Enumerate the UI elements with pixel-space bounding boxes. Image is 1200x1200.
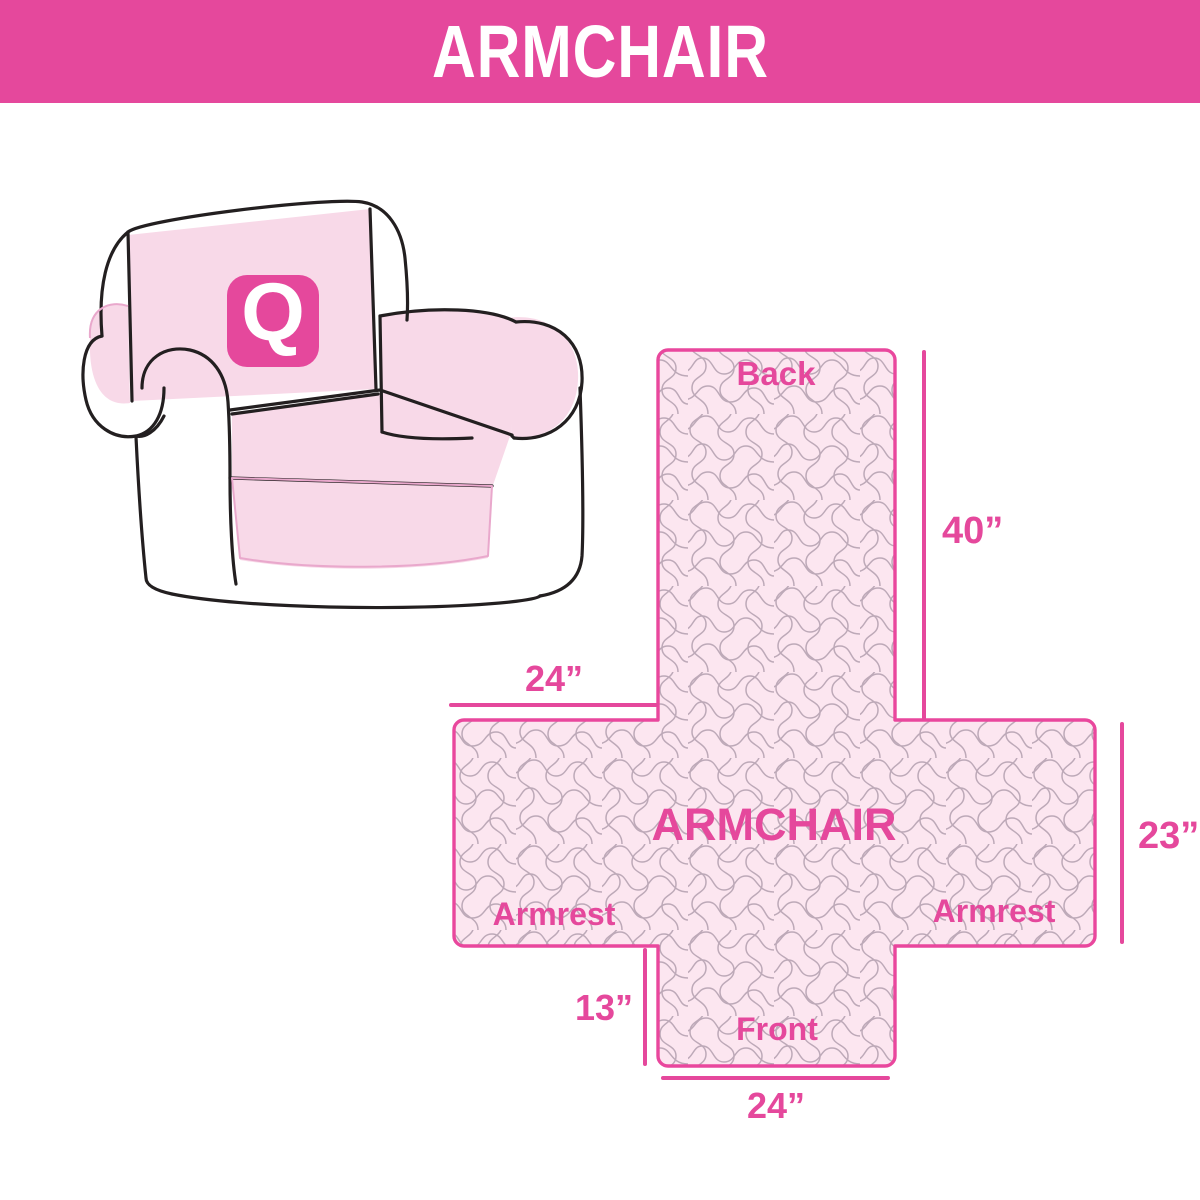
- dimension-label-23: 23”: [1138, 815, 1199, 857]
- dimension-label-13: 13”: [575, 987, 633, 1028]
- panel-label-armrest-left: Armrest: [493, 896, 616, 932]
- content-area: Q: [0, 103, 1200, 1200]
- dimension-front-height: 13”: [575, 950, 645, 1064]
- panel-label-front: Front: [736, 1011, 818, 1047]
- slipcover-dimension-diagram: Back ARMCHAIR Armrest Armrest Front 40” …: [430, 328, 1200, 1128]
- diagram-center-label: ARMCHAIR: [652, 799, 897, 850]
- dimension-back-height: 40”: [924, 352, 1003, 718]
- dimension-armrest-width: 24”: [451, 658, 656, 705]
- dimension-label-40: 40”: [942, 510, 1003, 552]
- dimension-front-width: 24”: [663, 1078, 888, 1126]
- brand-logo-letter: Q: [241, 267, 305, 358]
- dimension-body-height: 23”: [1122, 724, 1199, 942]
- dimension-label-24-bottom: 24”: [747, 1085, 805, 1126]
- page-title: ARMCHAIR: [432, 15, 769, 89]
- panel-label-armrest-right: Armrest: [933, 893, 1056, 929]
- panel-label-back: Back: [737, 355, 817, 392]
- header-banner: ARMCHAIR: [0, 0, 1200, 103]
- dimension-label-24-top: 24”: [525, 658, 583, 699]
- cross-shape: [454, 350, 1095, 1066]
- brand-logo-badge: Q: [227, 267, 319, 367]
